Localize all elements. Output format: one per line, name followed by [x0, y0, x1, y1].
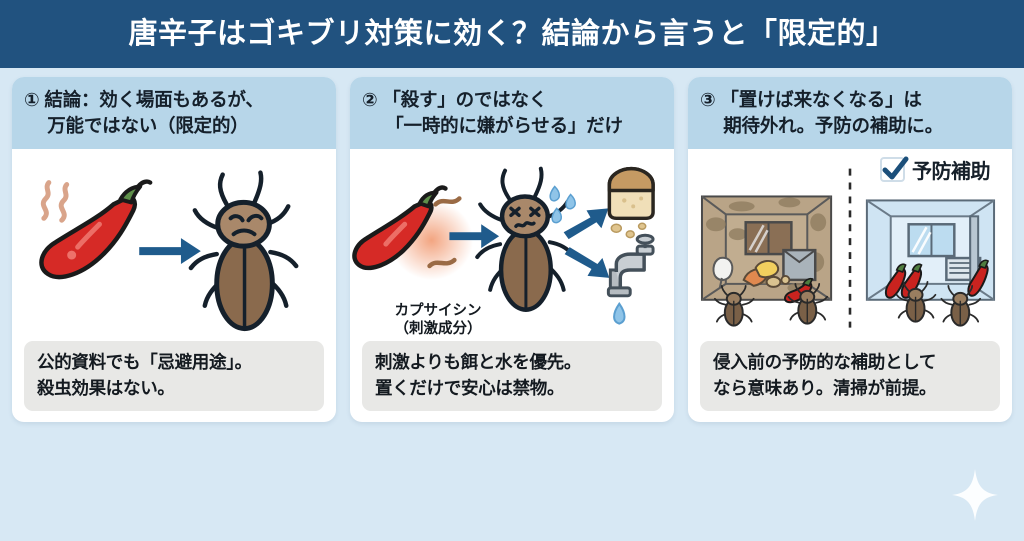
card-3-header: ③ 「置けば来なくなる」は 期待外れ。予防の補助に。	[688, 77, 1012, 149]
card-conclusion[interactable]: ① 結論：効く場面もあるが、 万能ではない（限定的）	[12, 77, 336, 422]
card-3-caption: 侵入前の予防的な補助として なら意味あり。清掃が前提。	[700, 341, 1000, 411]
cockroach-body-icon	[217, 202, 273, 328]
steam-icon	[43, 183, 66, 221]
illustration-capsaicin-roach-food-water: カプサイシン （刺激成分）	[360, 153, 664, 341]
card-3-caption-text: 侵入前の予防的な補助として なら意味あり。清掃が前提。	[713, 350, 989, 401]
card-1-heading: ① 結論：効く場面もあるが、 万能ではない（限定的）	[24, 87, 264, 140]
water-drop-icon	[614, 304, 624, 324]
card-1-body: 公的資料でも「忌避用途」。 殺虫効果はない。	[12, 149, 336, 422]
card-1-caption-text: 公的資料でも「忌避用途」。 殺虫効果はない。	[37, 350, 313, 401]
cards-row: ① 結論：効く場面もあるが、 万能ではない（限定的）	[0, 68, 1024, 422]
card-2-caption: 刺激よりも餌と水を優先。 置くだけで安心は禁物。	[362, 341, 662, 411]
faucet-icon	[608, 235, 653, 296]
card-3-heading: ③ 「置けば来なくなる」は 期待外れ。予防の補助に。	[700, 87, 943, 140]
card-prevention[interactable]: ③ 「置けば来なくなる」は 期待外れ。予防の補助に。 予防補助	[688, 77, 1012, 422]
dirty-room-icon	[702, 196, 831, 325]
bread-icon	[609, 169, 653, 219]
chili-pepper-icon	[41, 182, 150, 277]
page-header: 唐辛子はゴキブリ対策に効く？結論から言うと「限定的」	[0, 0, 1024, 68]
card-3-body: 予防補助	[688, 149, 1012, 422]
card-2-body: カプサイシン （刺激成分） 刺激よりも餌と水を優先。 置くだけで安心は禁物。	[350, 149, 674, 422]
arrow-to-faucet-icon	[565, 247, 610, 278]
page-title: 唐辛子はゴキブリ対策に効く？結論から言うと「限定的」	[128, 20, 895, 49]
right-arrow-icon	[139, 238, 201, 264]
illustration-dirty-vs-clean-room: 予防補助	[698, 153, 1002, 341]
capsaicin-label: カプサイシン （刺激成分）	[368, 302, 508, 340]
card-2-caption-text: 刺激よりも餌と水を優先。 置くだけで安心は禁物。	[375, 350, 651, 401]
card-1-header: ① 結論：効く場面もあるが、 万能ではない（限定的）	[12, 77, 336, 149]
sweat-drops-icon	[550, 187, 575, 223]
card-2-heading: ② 「殺す」のではなく 「一時的に嫌がらせる」だけ	[362, 87, 623, 140]
clean-room-icon	[867, 200, 994, 325]
illustration-chili-arrow-roach	[22, 153, 326, 341]
card-1-caption: 公的資料でも「忌避用途」。 殺虫効果はない。	[24, 341, 324, 411]
sparkle-icon	[952, 469, 998, 521]
arrow-to-bread-icon	[564, 208, 609, 239]
card-mechanism[interactable]: ② 「殺す」のではなく 「一時的に嫌がらせる」だけ	[350, 77, 674, 422]
card-2-header: ② 「殺す」のではなく 「一時的に嫌がらせる」だけ	[350, 77, 674, 149]
